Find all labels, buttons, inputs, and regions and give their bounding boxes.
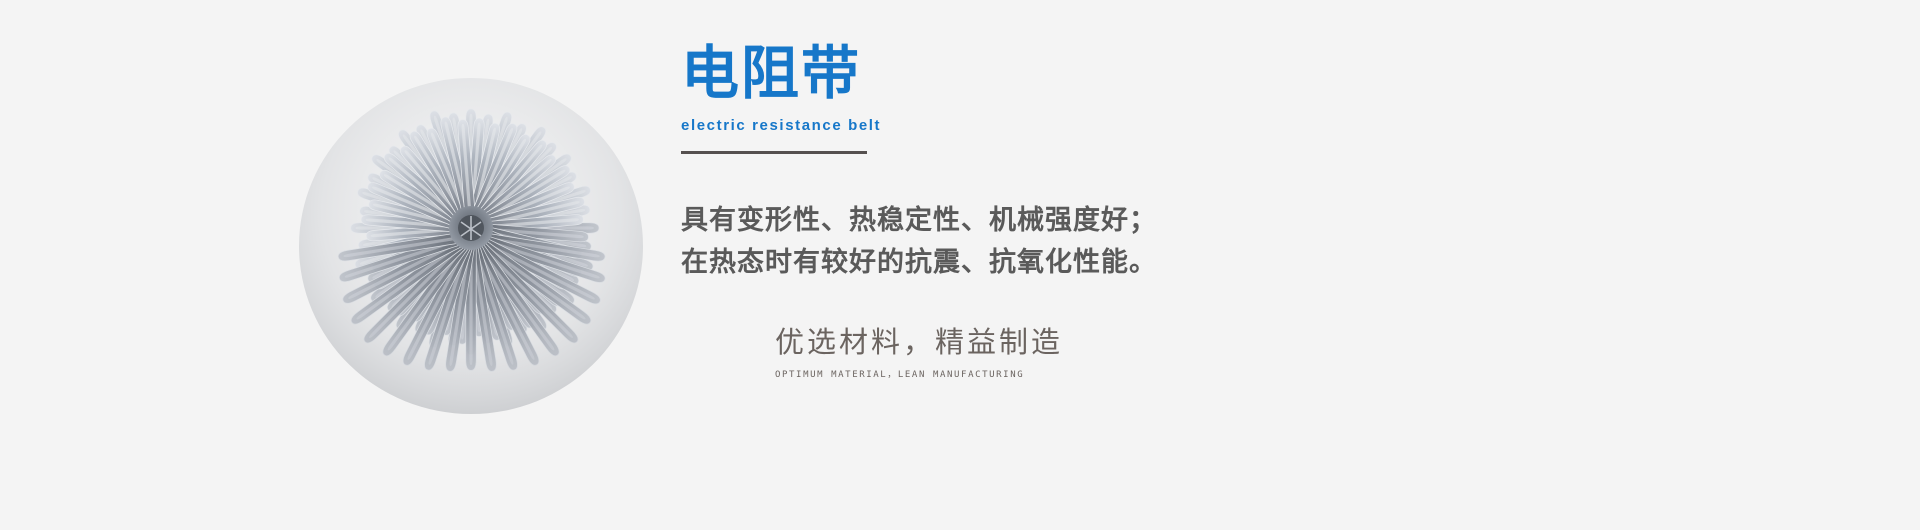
- slogan-chinese: 优选材料，精益制造: [775, 322, 1295, 362]
- product-description: 具有变形性、热稳定性、机械强度好； 在热态时有较好的抗震、抗氧化性能。: [681, 200, 1781, 284]
- banner-text-column: 电阻带 electric resistance belt 具有变形性、热稳定性、…: [681, 44, 1781, 494]
- resistance-belt-illustration: [295, 78, 647, 430]
- description-line-2: 在热态时有较好的抗震、抗氧化性能。: [681, 242, 1781, 284]
- slogan-english: OPTIMUM MATERIAL，LEAN MANUFACTURING: [775, 367, 1295, 380]
- description-line-1: 具有变形性、热稳定性、机械强度好；: [681, 200, 1781, 242]
- slogan-block: 优选材料，精益制造 OPTIMUM MATERIAL，LEAN MANUFACT…: [775, 322, 1295, 380]
- title-divider: [681, 151, 867, 154]
- product-banner: 电阻带 electric resistance belt 具有变形性、热稳定性、…: [0, 0, 1920, 530]
- page-subtitle: electric resistance belt: [681, 117, 1781, 134]
- page-title: 电阻带: [681, 44, 1781, 102]
- product-image: [295, 78, 647, 430]
